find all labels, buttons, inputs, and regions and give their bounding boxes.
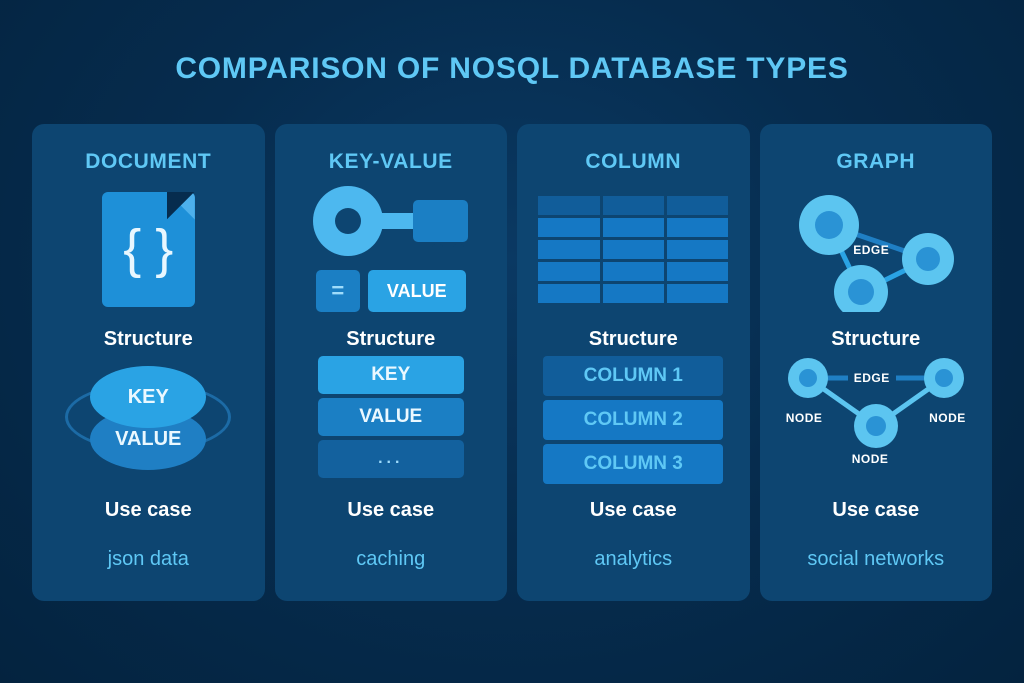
table-cell: [603, 218, 664, 237]
stack-row-key: KEY: [318, 356, 464, 394]
card-title-document: DOCUMENT: [85, 150, 211, 174]
equals-badge: =: [316, 270, 360, 312]
table-row: [538, 284, 728, 303]
graph-icon-area: EDGE: [760, 174, 993, 324]
table-cell: [603, 240, 664, 259]
key-value-icon-area: = VALUE: [275, 174, 508, 324]
stack-row-value: VALUE: [318, 398, 464, 436]
table-cell: [538, 262, 599, 281]
key-notch-right: [453, 244, 464, 256]
usecase-value-graph: social networks: [760, 548, 993, 571]
column-stack: COLUMN 1 COLUMN 2 COLUMN 3: [543, 356, 723, 484]
column-structure-area: COLUMN 1 COLUMN 2 COLUMN 3: [517, 356, 750, 486]
key-icon: [313, 186, 468, 256]
column-icon-area: [517, 174, 750, 324]
card-document[interactable]: DOCUMENT { } Structure VALUE KEY: [32, 124, 265, 601]
table-cell: [667, 196, 728, 215]
table-row: [538, 262, 728, 281]
usecase-value-document: json data: [32, 548, 265, 571]
card-title-column: COLUMN: [585, 150, 681, 174]
key-bit: [413, 200, 468, 242]
usecase-label-document: Use case: [32, 499, 265, 522]
usecase-label-graph: Use case: [760, 499, 993, 522]
graph-node-label-left: NODE: [786, 411, 823, 425]
key-value-structure-area: KEY VALUE ...: [275, 356, 508, 486]
table-cell: [667, 218, 728, 237]
graph-structure-edge-label: EDGE: [848, 371, 896, 385]
card-title-key-value: KEY-VALUE: [329, 150, 453, 174]
table-cell: [667, 262, 728, 281]
structure-label-graph: Structure: [760, 328, 993, 351]
graph-edge-label: EDGE: [853, 243, 889, 257]
structure-label-column: Structure: [517, 328, 750, 351]
card-row: DOCUMENT { } Structure VALUE KEY: [32, 124, 992, 601]
document-icon-area: { }: [32, 174, 265, 324]
graph-structure-area: EDGE NODE NODE NODE: [760, 356, 993, 486]
table-cell: [603, 284, 664, 303]
page-title: COMPARISON OF NOSQL DATABASE TYPES: [0, 52, 1024, 86]
card-column[interactable]: COLUMN: [517, 124, 750, 601]
graph-structure-diagram: EDGE NODE NODE NODE: [786, 356, 966, 476]
stack-row-column-3: COLUMN 3: [543, 444, 723, 484]
poster-background: COMPARISON OF NOSQL DATABASE TYPES DOCUM…: [0, 0, 1024, 683]
table-cell: [667, 284, 728, 303]
structure-label-key-value: Structure: [275, 328, 508, 351]
graph-nodes-icon: EDGE: [793, 187, 958, 312]
table-cell: [603, 262, 664, 281]
table-cell: [603, 196, 664, 215]
brace-close: }: [155, 222, 173, 276]
usecase-value-key-value: caching: [275, 548, 508, 571]
table-cell: [538, 196, 599, 215]
venn-key-ellipse: KEY: [90, 366, 206, 428]
document-structure-area: VALUE KEY: [32, 356, 265, 486]
graph-node-label-right: NODE: [929, 411, 966, 425]
table-cell: [667, 240, 728, 259]
stack-row-ellipsis: ...: [318, 440, 464, 478]
usecase-value-column: analytics: [517, 548, 750, 571]
key-value-badges: = VALUE: [316, 270, 466, 312]
table-grid-icon: [538, 196, 728, 303]
card-title-graph: GRAPH: [836, 150, 915, 174]
key-notch-left: [432, 244, 443, 256]
graph-node-label-bottom: NODE: [852, 452, 889, 466]
stack-row-column-2: COLUMN 2: [543, 400, 723, 440]
key-value-venn: VALUE KEY: [63, 358, 233, 476]
card-graph[interactable]: GRAPH EDGE: [760, 124, 993, 601]
table-cell: [538, 240, 599, 259]
table-cell: [538, 218, 599, 237]
brace-open: {: [123, 222, 141, 276]
structure-label-document: Structure: [32, 328, 265, 351]
stack-row-column-1: COLUMN 1: [543, 356, 723, 396]
value-badge: VALUE: [368, 270, 466, 312]
table-cell: [538, 284, 599, 303]
card-key-value[interactable]: KEY-VALUE = VALUE Structure: [275, 124, 508, 601]
table-row: [538, 218, 728, 237]
key-value-stack: KEY VALUE ...: [318, 356, 464, 478]
usecase-label-key-value: Use case: [275, 499, 508, 522]
usecase-label-column: Use case: [517, 499, 750, 522]
table-row: [538, 196, 728, 215]
document-braces-icon: { }: [102, 192, 195, 307]
document-braces: { }: [102, 192, 195, 307]
table-row: [538, 240, 728, 259]
